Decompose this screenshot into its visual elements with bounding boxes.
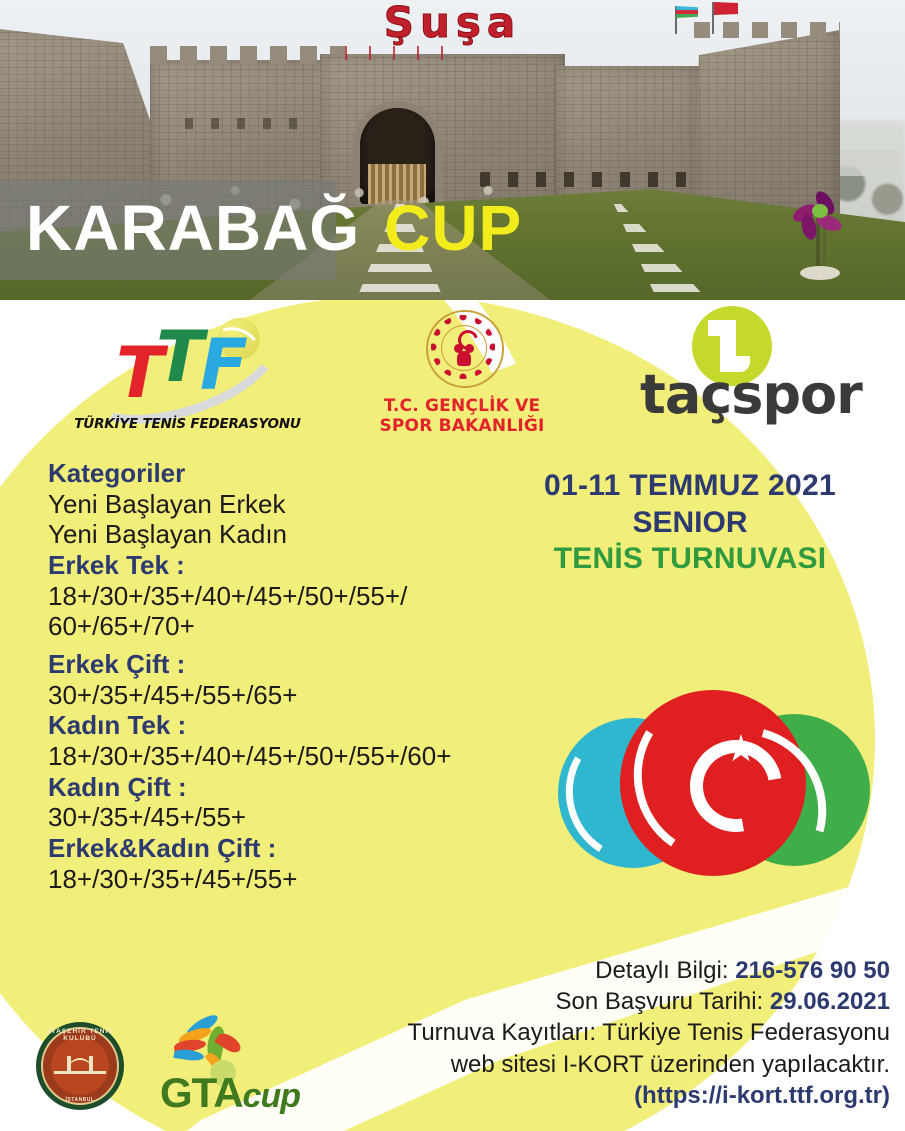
contact-deadline-line: Son Başvuru Tarihi: 29.06.2021 bbox=[330, 986, 890, 1017]
category-label-mens-singles: Erkek Tek : bbox=[48, 550, 528, 581]
page-title: KARABAĞCUP bbox=[26, 196, 522, 260]
title-karabag: KARABAĞ bbox=[26, 192, 360, 264]
category-label-womens-doubles: Kadın Çift : bbox=[48, 772, 528, 803]
ministry-label-line1: T.C. GENÇLİK VE bbox=[384, 396, 541, 416]
tennis-balls-graphic bbox=[548, 690, 878, 890]
hero-photo: Şuşa KARABAĞCUP bbox=[0, 0, 905, 300]
category-label-mens-doubles: Erkek Çift : bbox=[48, 649, 528, 680]
event-dates: 01-11 TEMMUZ 2021 bbox=[490, 468, 890, 505]
gta-text: GTA bbox=[160, 1069, 243, 1116]
title-cup: CUP bbox=[384, 192, 522, 264]
club-badge-label-top: ATAŞEHİR TENİS KULÜBÜ bbox=[36, 1028, 124, 1042]
ministry-emblem-icon bbox=[426, 310, 504, 388]
ministry-label-line2: SPOR BAKANLIĞI bbox=[379, 416, 544, 436]
pinwheel-sculpture bbox=[790, 168, 850, 278]
category-values-womens-singles: 18+/30+/35+/40+/45+/50+/55+/60+ bbox=[48, 741, 528, 772]
sponsor-logos-row: T T F TÜRKİYE TENİS FEDERASYONU T.C. GE bbox=[0, 304, 905, 444]
gta-cup-text: cup bbox=[243, 1077, 300, 1115]
ministry-figure-body bbox=[457, 351, 471, 366]
bridge-icon bbox=[54, 1056, 106, 1078]
battlement-left bbox=[150, 46, 345, 64]
tacspor-logo[interactable]: taçspor bbox=[640, 306, 875, 446]
tournament-poster: Şuşa KARABAĞCUP T T F TÜRKİYE TENİS FEDE… bbox=[0, 0, 905, 1131]
contact-phone-label: Detaylı Bilgi: bbox=[595, 957, 735, 984]
category-beginner-men: Yeni Başlayan Erkek bbox=[48, 489, 528, 520]
category-values-mixed-doubles: 18+/30+/35+/45+/55+ bbox=[48, 864, 528, 895]
category-beginner-women: Yeni Başlayan Kadın bbox=[48, 519, 528, 550]
event-level: SENIOR bbox=[490, 505, 890, 542]
category-label-mixed-doubles: Erkek&Kadın Çift : bbox=[48, 833, 528, 864]
categories-block: Kategoriler Yeni Başlayan Erkek Yeni Baş… bbox=[48, 458, 528, 894]
susa-sign: Şuşa bbox=[0, 2, 905, 44]
category-values-mens-singles-1: 18+/30+/35+/40+/45+/50+/55+/ bbox=[48, 581, 528, 612]
poster-body: T T F TÜRKİYE TENİS FEDERASYONU T.C. GE bbox=[0, 300, 905, 1131]
event-info-block: 01-11 TEMMUZ 2021 SENIOR TENİS TURNUVASI bbox=[490, 468, 890, 578]
contact-deadline-label: Son Başvuru Tarihi: bbox=[556, 988, 770, 1015]
categories-heading: Kategoriler bbox=[48, 458, 528, 489]
club-badge-label-bottom: İSTANBUL bbox=[36, 1097, 124, 1103]
ttf-letter-f: F bbox=[200, 330, 248, 400]
ttf-logo[interactable]: T T F TÜRKİYE TENİS FEDERASYONU bbox=[70, 312, 305, 442]
gtacup-logo-label: GTAcup bbox=[160, 1072, 350, 1114]
contact-phone-line: Detaylı Bilgi: 216-576 90 50 bbox=[330, 955, 890, 986]
contact-phone-value: 216-576 90 50 bbox=[735, 957, 890, 984]
contact-block: Detaylı Bilgi: 216-576 90 50 Son Başvuru… bbox=[330, 955, 890, 1111]
bridge-deck bbox=[54, 1071, 106, 1074]
ttf-letter-t2: T bbox=[156, 322, 204, 392]
tacspor-logo-label: taçspor bbox=[640, 368, 875, 422]
registration-url[interactable]: (https://i-kort.ttf.org.tr) bbox=[330, 1080, 890, 1111]
gtacup-logo[interactable]: GTAcup bbox=[160, 1018, 350, 1118]
event-type: TENİS TURNUVASI bbox=[490, 541, 890, 578]
bird-feather bbox=[173, 1048, 204, 1062]
pinwheel-hub bbox=[812, 204, 828, 218]
category-values-mens-doubles: 30+/35+/45+/55+/65+ bbox=[48, 680, 528, 711]
category-label-womens-singles: Kadın Tek : bbox=[48, 710, 528, 741]
registration-line-2: web sitesi I-KORT üzerinden yapılacaktır… bbox=[330, 1049, 890, 1080]
registration-line-1: Turnuva Kayıtları: Türkiye Tenis Federas… bbox=[330, 1017, 890, 1048]
ministry-inner-ring bbox=[441, 325, 487, 371]
ttf-logo-label: TÜRKİYE TENİS FEDERASYONU bbox=[70, 416, 305, 432]
contact-deadline-value: 29.06.2021 bbox=[770, 988, 890, 1015]
susa-sign-supports bbox=[345, 46, 465, 60]
category-values-womens-doubles: 30+/35+/45+/55+ bbox=[48, 802, 528, 833]
atasehir-tennis-club-logo[interactable]: ATAŞEHİR TENİS KULÜBÜ İSTANBUL bbox=[36, 1022, 124, 1110]
category-values-mens-singles-2: 60+/65+/70+ bbox=[48, 611, 528, 642]
embrasure-row-upper bbox=[185, 118, 315, 129]
ministry-logo-label: T.C. GENÇLİK VE SPOR BAKANLIĞI bbox=[352, 396, 572, 437]
pinwheel-base bbox=[800, 266, 840, 280]
tennis-ball-red-turkish-flag bbox=[620, 690, 806, 876]
ministry-logo[interactable]: T.C. GENÇLİK VE SPOR BAKANLIĞI bbox=[352, 310, 572, 442]
